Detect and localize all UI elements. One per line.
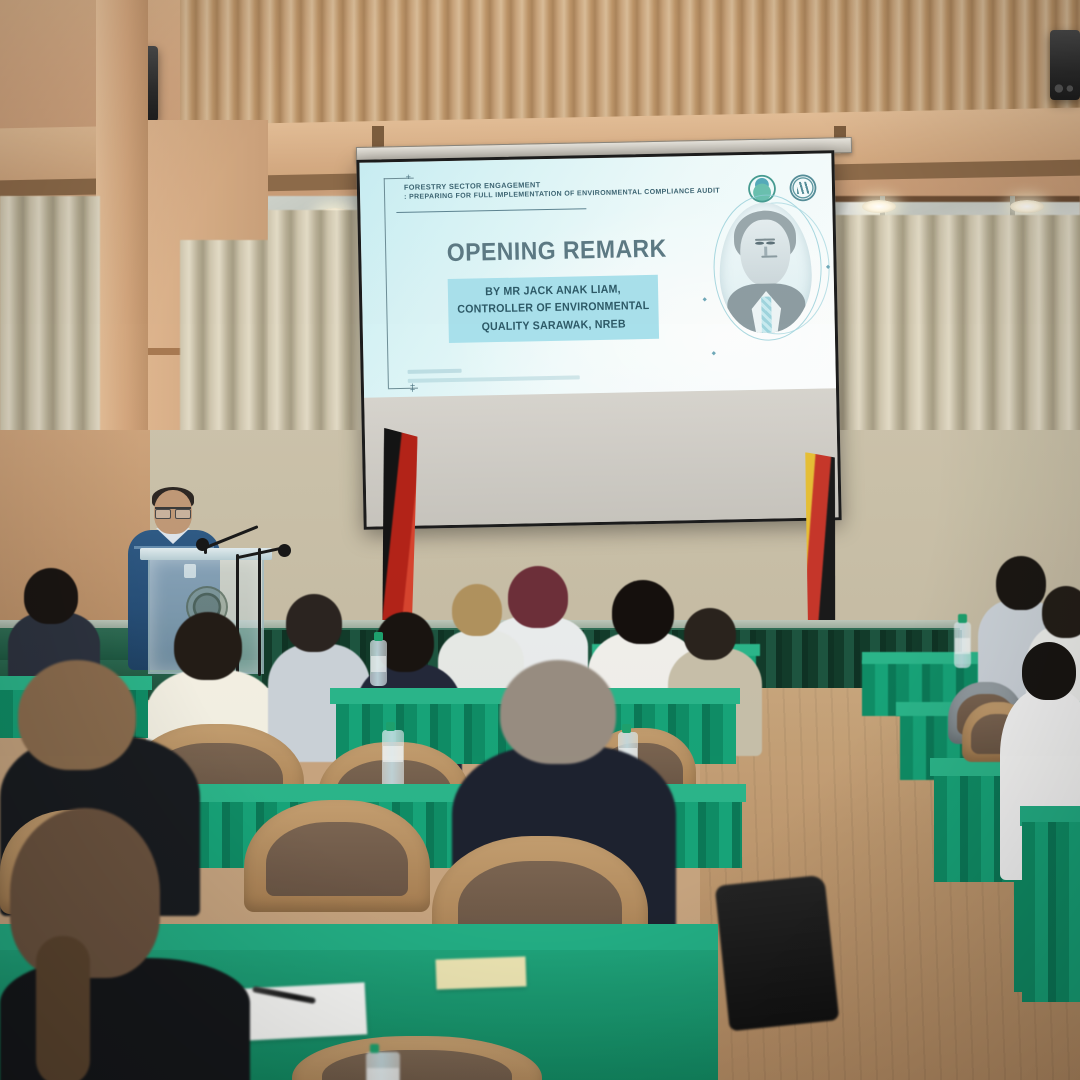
person-head-bald (500, 660, 616, 764)
slide-footer-note (408, 365, 638, 383)
microphone-head-b (278, 544, 291, 557)
wall-mounted-speaker-top-right (1050, 30, 1080, 100)
portrait-eye-left (755, 242, 764, 245)
portrait-mouth (761, 255, 777, 257)
speaker-portrait-illustration (718, 202, 813, 334)
slide-corner-bracket (384, 178, 389, 388)
person-head-long-hair (18, 660, 136, 770)
person-head (286, 594, 342, 652)
microphone-head-a (196, 538, 209, 551)
portrait-nose (764, 247, 767, 256)
person-head (1022, 642, 1076, 700)
flag-left (380, 428, 418, 641)
mineral-water-bottle (370, 640, 387, 686)
portrait-face (740, 219, 791, 288)
banquet-chair (244, 800, 430, 912)
person-ponytail (36, 936, 90, 1080)
decorative-dot (703, 297, 707, 301)
presenter-glasses (155, 507, 191, 515)
recessed-ceiling-light (1010, 200, 1044, 213)
person-head-red-hair (508, 566, 568, 628)
portrait-oval-frame (718, 202, 813, 334)
flag-right-sarawak (805, 452, 837, 640)
mineral-water-bottle (366, 1052, 400, 1080)
chair-cushion (266, 822, 407, 896)
conference-hall-photo: + + FORESTRY SECTOR ENGAGEMENT : PREPARI… (0, 0, 1080, 1080)
plus-tick-icon: + (406, 173, 411, 182)
slide-header: FORESTRY SECTOR ENGAGEMENT : PREPARING F… (404, 175, 734, 204)
slide-subtitle-line3: QUALITY SARAWAK, NREB (452, 316, 655, 337)
slide-header-rule (396, 208, 586, 213)
screen-blank-area (364, 386, 839, 526)
chair-cushion (322, 1050, 512, 1080)
person-head (1042, 586, 1080, 638)
table-right-foreground (1022, 822, 1080, 1002)
person-head (684, 608, 736, 660)
person-head (24, 568, 78, 624)
projection-screen: + + FORESTRY SECTOR ENGAGEMENT : PREPARI… (356, 150, 841, 530)
black-backpack (715, 875, 840, 1032)
plus-tick-icon: + (410, 385, 415, 394)
slide-footer-line2 (408, 375, 580, 382)
portrait-tie (762, 296, 772, 333)
person-head-blonde (452, 584, 502, 636)
recessed-ceiling-light (862, 200, 896, 213)
presentation-slide: + + FORESTRY SECTOR ENGAGEMENT : PREPARI… (359, 153, 836, 397)
slide-subtitle-band: BY MR JACK ANAK LIAM, CONTROLLER OF ENVI… (448, 275, 659, 343)
mineral-water-bottle (954, 622, 971, 668)
person-head (612, 580, 674, 644)
decorative-dot (712, 351, 716, 355)
portrait-eye-right (766, 242, 775, 245)
audience-person-foreground-left (0, 808, 230, 1080)
agency-circular-logo-icon (787, 172, 820, 205)
yellow-note-card (436, 956, 527, 989)
slide-footer-line1 (408, 369, 462, 374)
